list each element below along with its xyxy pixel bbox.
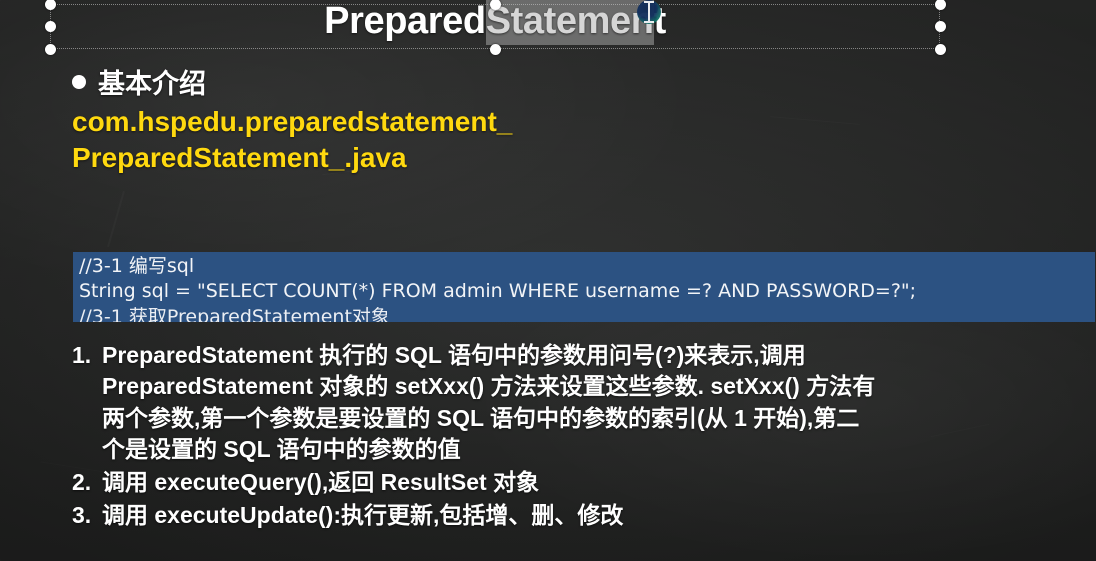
resize-handle-top-center[interactable]	[490, 0, 501, 10]
resize-handle-bottom-left[interactable]	[45, 44, 56, 55]
list-item-line: PreparedStatement 对象的 setXxx() 方法来设置这些参数…	[102, 371, 1082, 402]
list-item: 3. 调用 executeUpdate():执行更新,包括增、删、修改	[72, 500, 1082, 531]
numbered-list: 1. PreparedStatement 执行的 SQL 语句中的参数用问号(?…	[72, 340, 1082, 534]
code-line-comment: //3-1 编写sql	[73, 254, 1095, 279]
code-lines-container: //3-1 编写sql String sql = "SELECT COUNT(*…	[73, 252, 1095, 322]
resize-handle-top-left[interactable]	[45, 0, 56, 10]
list-item-line: 个是设置的 SQL 语句中的参数的值	[102, 434, 1082, 465]
resize-handle-bottom-center[interactable]	[490, 44, 501, 55]
bullet-heading-label: 基本介绍	[98, 62, 206, 101]
list-item-line: 两个参数,第一个参数是要设置的 SQL 语句中的参数的索引(从 1 开始),第二	[102, 403, 1082, 434]
package-path-line-1: com.hspedu.preparedstatement_	[72, 104, 512, 140]
resize-handle-middle-left[interactable]	[45, 21, 56, 32]
package-path-block: com.hspedu.preparedstatement_ PreparedSt…	[72, 104, 512, 175]
presentation-slide: PreparedStatement 基本介绍 com.hspedu.prepar…	[0, 0, 1096, 561]
title-textbox[interactable]: PreparedStatement	[50, 4, 940, 49]
resize-handle-top-right[interactable]	[935, 0, 946, 10]
list-item: 1. PreparedStatement 执行的 SQL 语句中的参数用问号(?…	[72, 340, 1082, 465]
resize-handle-middle-right[interactable]	[935, 21, 946, 32]
title-selected-text[interactable]: Statemen	[486, 0, 654, 45]
list-item-body: 调用 executeQuery(),返回 ResultSet 对象	[102, 467, 1082, 498]
list-item: 2. 调用 executeQuery(),返回 ResultSet 对象	[72, 467, 1082, 498]
list-item-number: 3.	[72, 500, 102, 531]
code-line-sql: String sql = "SELECT COUNT(*) FROM admin…	[73, 279, 1095, 304]
code-line-comment-2: //3-1 获取PreparedStatement对象	[73, 305, 1095, 322]
list-item-body: 调用 executeUpdate():执行更新,包括增、删、修改	[102, 500, 1082, 531]
list-item-line: 调用 executeQuery(),返回 ResultSet 对象	[102, 467, 1082, 498]
bullet-point-icon	[72, 75, 86, 89]
title-text-after-selection: t	[654, 0, 666, 42]
code-screenshot-block: //3-1 编写sql String sql = "SELECT COUNT(*…	[73, 252, 1095, 322]
list-item-line: 调用 executeUpdate():执行更新,包括增、删、修改	[102, 500, 1082, 531]
list-item-number: 2.	[72, 467, 102, 498]
resize-handle-bottom-right[interactable]	[935, 44, 946, 55]
chalk-scratch	[770, 116, 860, 125]
list-item-number: 1.	[72, 340, 102, 371]
bullet-heading: 基本介绍	[72, 62, 206, 101]
list-item-line: PreparedStatement 执行的 SQL 语句中的参数用问号(?)来表…	[102, 340, 1082, 371]
chalk-scratch	[107, 191, 125, 247]
title-text-before-selection: Prepared	[324, 0, 486, 42]
list-item-body: PreparedStatement 执行的 SQL 语句中的参数用问号(?)来表…	[102, 340, 1082, 465]
package-path-line-2: PreparedStatement_.java	[72, 140, 512, 176]
